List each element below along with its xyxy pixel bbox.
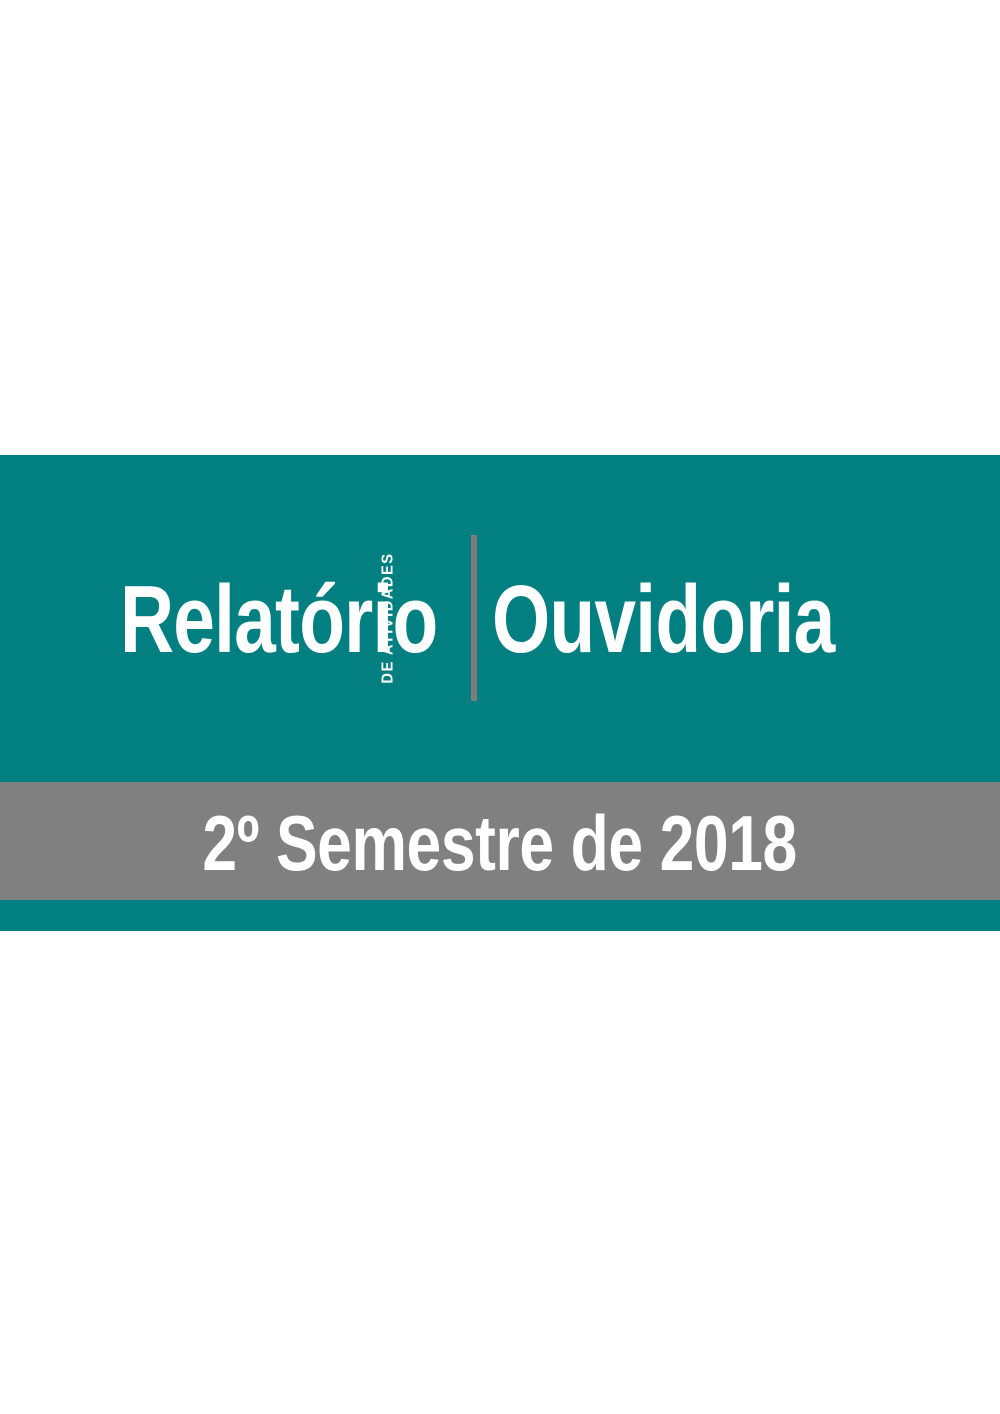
report-cover-page: Relatório DE ATIVIDADES Ouvidoria 2º Sem… [0,0,1000,1414]
subtitle-period-label: 2º Semestre de 2018 [203,800,798,882]
title-divider-rule [471,535,477,701]
report-title-vertical-wrap: DE ATIVIDADES [432,545,460,690]
subtitle-band: 2º Semestre de 2018 [0,782,1000,900]
footer-accent-rule [0,900,1000,931]
report-title-secondary: Ouvidoria [492,572,834,668]
subtitle-period-wrap: 2º Semestre de 2018 [0,782,1000,900]
hero-title-band: Relatório DE ATIVIDADES Ouvidoria [0,455,1000,782]
title-lockup: Relatório DE ATIVIDADES Ouvidoria [0,455,1000,782]
report-title-vertical-label: DE ATIVIDADES [380,552,398,683]
